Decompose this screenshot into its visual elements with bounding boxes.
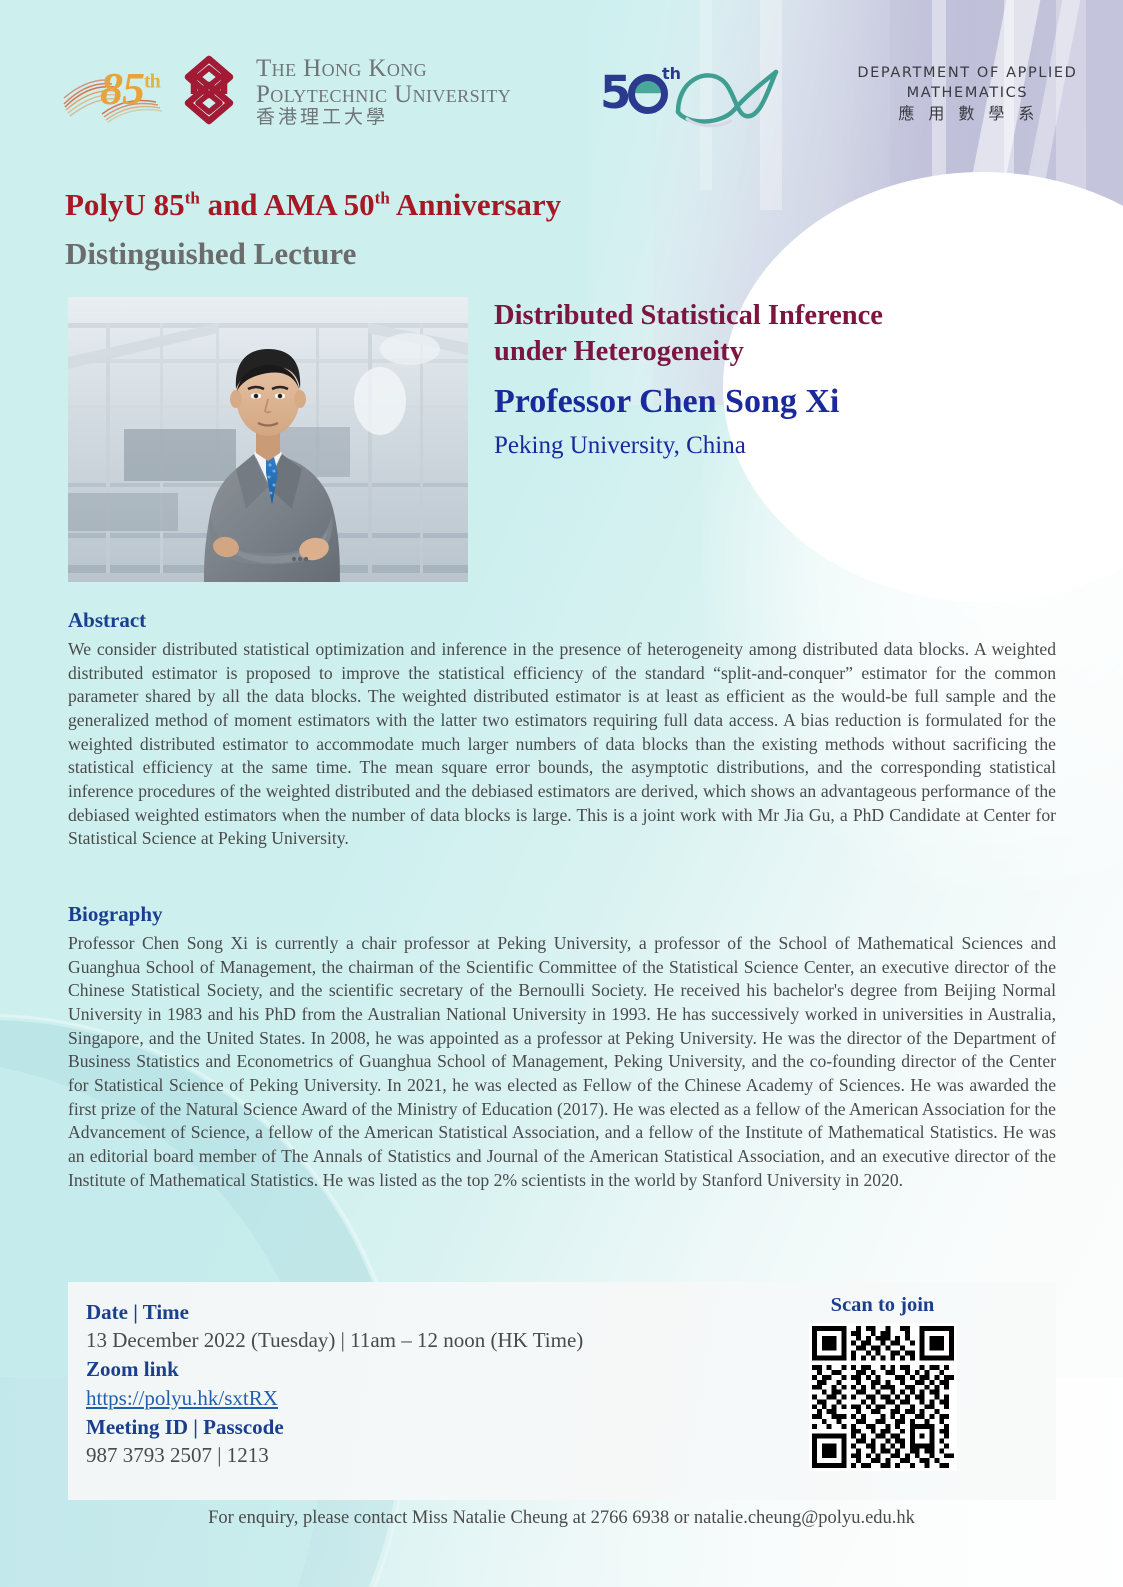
- event-title: PolyU 85th and AMA 50th Anniversary: [65, 185, 765, 225]
- biography-heading: Biography: [68, 902, 1056, 927]
- meeting-id-value: 987 3793 2507 | 1213: [86, 1441, 726, 1470]
- polyu-name-line1: The Hong Kong: [256, 56, 511, 82]
- ama-dept-zh: 應用數學系: [812, 103, 1123, 125]
- qr-code[interactable]: [809, 1323, 957, 1471]
- ama-logo: 5 th DEPARTMENT OF APPLIED MATHEMATICS 應…: [600, 54, 1123, 134]
- event-title-part3: Anniversary: [390, 187, 561, 222]
- ama-dept-en: DEPARTMENT OF APPLIED MATHEMATICS: [812, 63, 1123, 104]
- abstract-body: We consider distributed statistical opti…: [68, 638, 1056, 851]
- qr-caption: Scan to join: [795, 1294, 970, 1317]
- ama-wave-icon: [672, 56, 790, 133]
- polyu-name-chinese: 香港理工大學: [256, 108, 511, 128]
- footer-enquiry: For enquiry, please contact Miss Natalie…: [0, 1508, 1123, 1529]
- biography-body: Professor Chen Song Xi is currently a ch…: [68, 932, 1056, 1192]
- polyu-name-line2: Polytechnic University: [256, 82, 511, 108]
- polyu-logo: 85th The Hong Kong Polytechnic Univers: [62, 52, 511, 132]
- speaker-block: Distributed Statistical Inference under …: [494, 298, 1064, 461]
- event-subtitle: Distinguished Lecture: [65, 234, 765, 274]
- speaker-photo: [68, 297, 468, 582]
- meeting-id-label: Meeting ID | Passcode: [86, 1413, 726, 1441]
- event-title-sup2: th: [375, 189, 390, 208]
- event-title-part2: and AMA 50: [200, 187, 375, 222]
- polyu-wordmark: The Hong Kong Polytechnic University 香港理…: [256, 56, 511, 128]
- speaker-affiliation: Peking University, China: [494, 431, 1064, 461]
- date-time-value: 13 December 2022 (Tuesday) | 11am – 12 n…: [86, 1326, 726, 1355]
- talk-title-line1: Distributed Statistical Inference: [494, 298, 1064, 334]
- biography-section: Biography Professor Chen Song Xi is curr…: [68, 902, 1056, 1192]
- abstract-section: Abstract We consider distributed statist…: [68, 608, 1056, 851]
- qr-section: Scan to join: [795, 1294, 970, 1471]
- anniversary-ribbon-icon: 85th: [62, 58, 168, 126]
- polyu-knot-emblem-icon: [172, 52, 246, 133]
- speaker-name: Professor Chen Song Xi: [494, 382, 1064, 423]
- ama-50th-number: 5 th: [600, 66, 670, 122]
- title-block: PolyU 85th and AMA 50th Anniversary Dist…: [65, 185, 765, 273]
- lecture-poster: 85th The Hong Kong Polytechnic Univers: [0, 0, 1123, 1587]
- event-details-box: Date | Time 13 December 2022 (Tuesday) |…: [68, 1282, 1056, 1500]
- ama-wordmark: DEPARTMENT OF APPLIED MATHEMATICS 應用數學系: [812, 63, 1123, 126]
- zoom-link-label: Zoom link: [86, 1355, 726, 1383]
- polyu-85th-number: 85th: [100, 66, 160, 112]
- talk-title-line2: under Heterogeneity: [494, 334, 1064, 370]
- event-details-list: Date | Time 13 December 2022 (Tuesday) |…: [86, 1298, 726, 1470]
- event-title-part1: PolyU 85: [65, 187, 185, 222]
- abstract-heading: Abstract: [68, 608, 1056, 633]
- poster-header: 85th The Hong Kong Polytechnic Univers: [0, 0, 1123, 175]
- talk-title: Distributed Statistical Inference under …: [494, 298, 1064, 371]
- zoom-link[interactable]: https://polyu.hk/sxtRX: [86, 1384, 278, 1413]
- date-time-label: Date | Time: [86, 1298, 726, 1326]
- event-title-sup1: th: [185, 189, 200, 208]
